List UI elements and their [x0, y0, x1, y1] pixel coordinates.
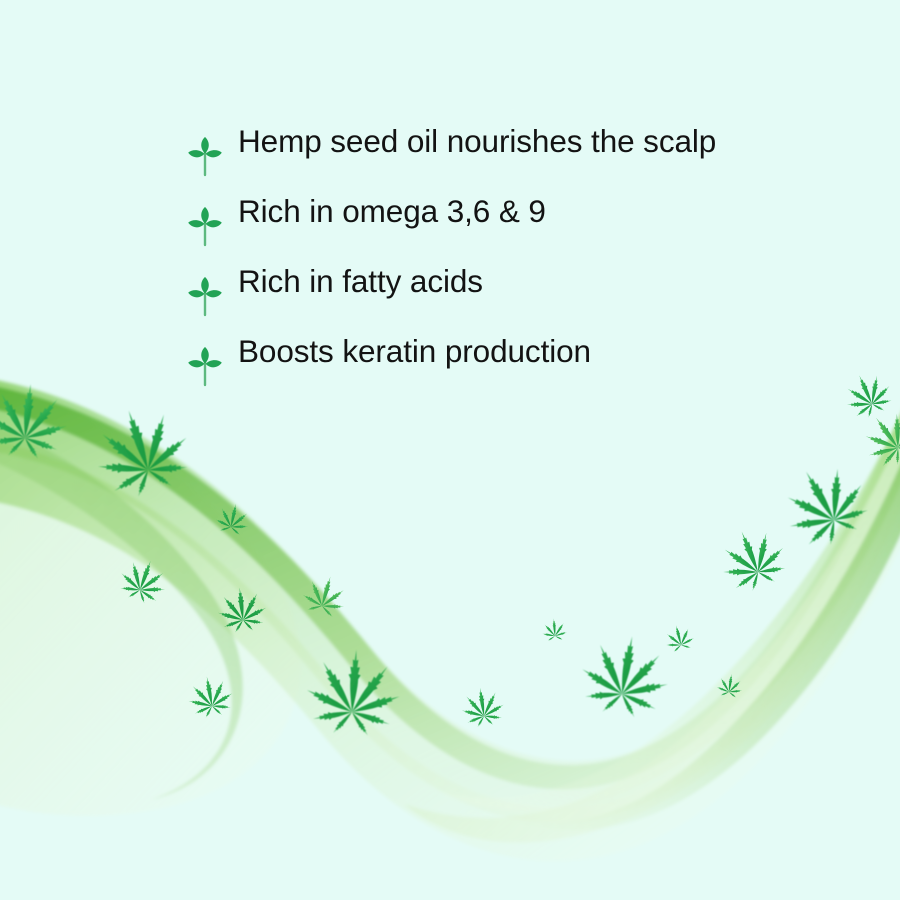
- hemp-leaf: [213, 500, 253, 537]
- hemp-leaf: [541, 617, 568, 642]
- sprout-icon: [186, 188, 238, 247]
- promo-graphic-canvas: Hemp seed oil nourishes the scalp Rich i…: [0, 0, 900, 900]
- hemp-leaf: [215, 585, 270, 635]
- ribbon-right-strand: [520, 452, 900, 830]
- benefit-label: Boosts keratin production: [238, 328, 591, 374]
- benefit-item-1: Hemp seed oil nourishes the scalp: [186, 118, 866, 188]
- benefit-item-3: Rich in fatty acids: [186, 258, 866, 328]
- hemp-leaf: [302, 646, 404, 739]
- hemp-leaf: [458, 685, 507, 730]
- benefit-item-2: Rich in omega 3,6 & 9: [186, 188, 866, 258]
- hemp-leaf: [298, 571, 351, 621]
- benefit-label: Hemp seed oil nourishes the scalp: [238, 118, 716, 164]
- ribbon-group: [0, 352, 900, 861]
- ribbon-right-lobe: [440, 368, 900, 811]
- hemp-leaf: [769, 450, 882, 560]
- benefits-list: Hemp seed oil nourishes the scalp Rich i…: [186, 118, 866, 398]
- ribbon-right-wash: [404, 362, 900, 843]
- hemp-leaf: [113, 552, 173, 609]
- benefit-label: Rich in fatty acids: [238, 258, 483, 304]
- hemp-leaf: [574, 629, 677, 724]
- hemp-leaf: [184, 673, 237, 722]
- hemp-leaf: [711, 519, 796, 600]
- hemp-leaf: [853, 401, 900, 477]
- sprout-icon: [186, 118, 238, 177]
- sprout-icon: [186, 258, 238, 317]
- hemp-leaf-group: [0, 366, 900, 740]
- hemp-leaf: [662, 622, 697, 655]
- hemp-leaf: [0, 380, 72, 464]
- benefit-label: Rich in omega 3,6 & 9: [238, 188, 546, 234]
- benefit-item-4: Boosts keratin production: [186, 328, 866, 398]
- ribbon-left-inner-line: [0, 392, 243, 800]
- sprout-icon: [186, 328, 238, 387]
- hemp-leaf: [715, 672, 744, 699]
- ribbon-main-swoosh: [0, 372, 900, 823]
- ribbon-left-lobe: [0, 352, 301, 816]
- ribbon-edge-strand: [0, 378, 900, 789]
- ribbon-second-swoosh: [0, 430, 900, 861]
- hemp-leaf: [83, 396, 202, 508]
